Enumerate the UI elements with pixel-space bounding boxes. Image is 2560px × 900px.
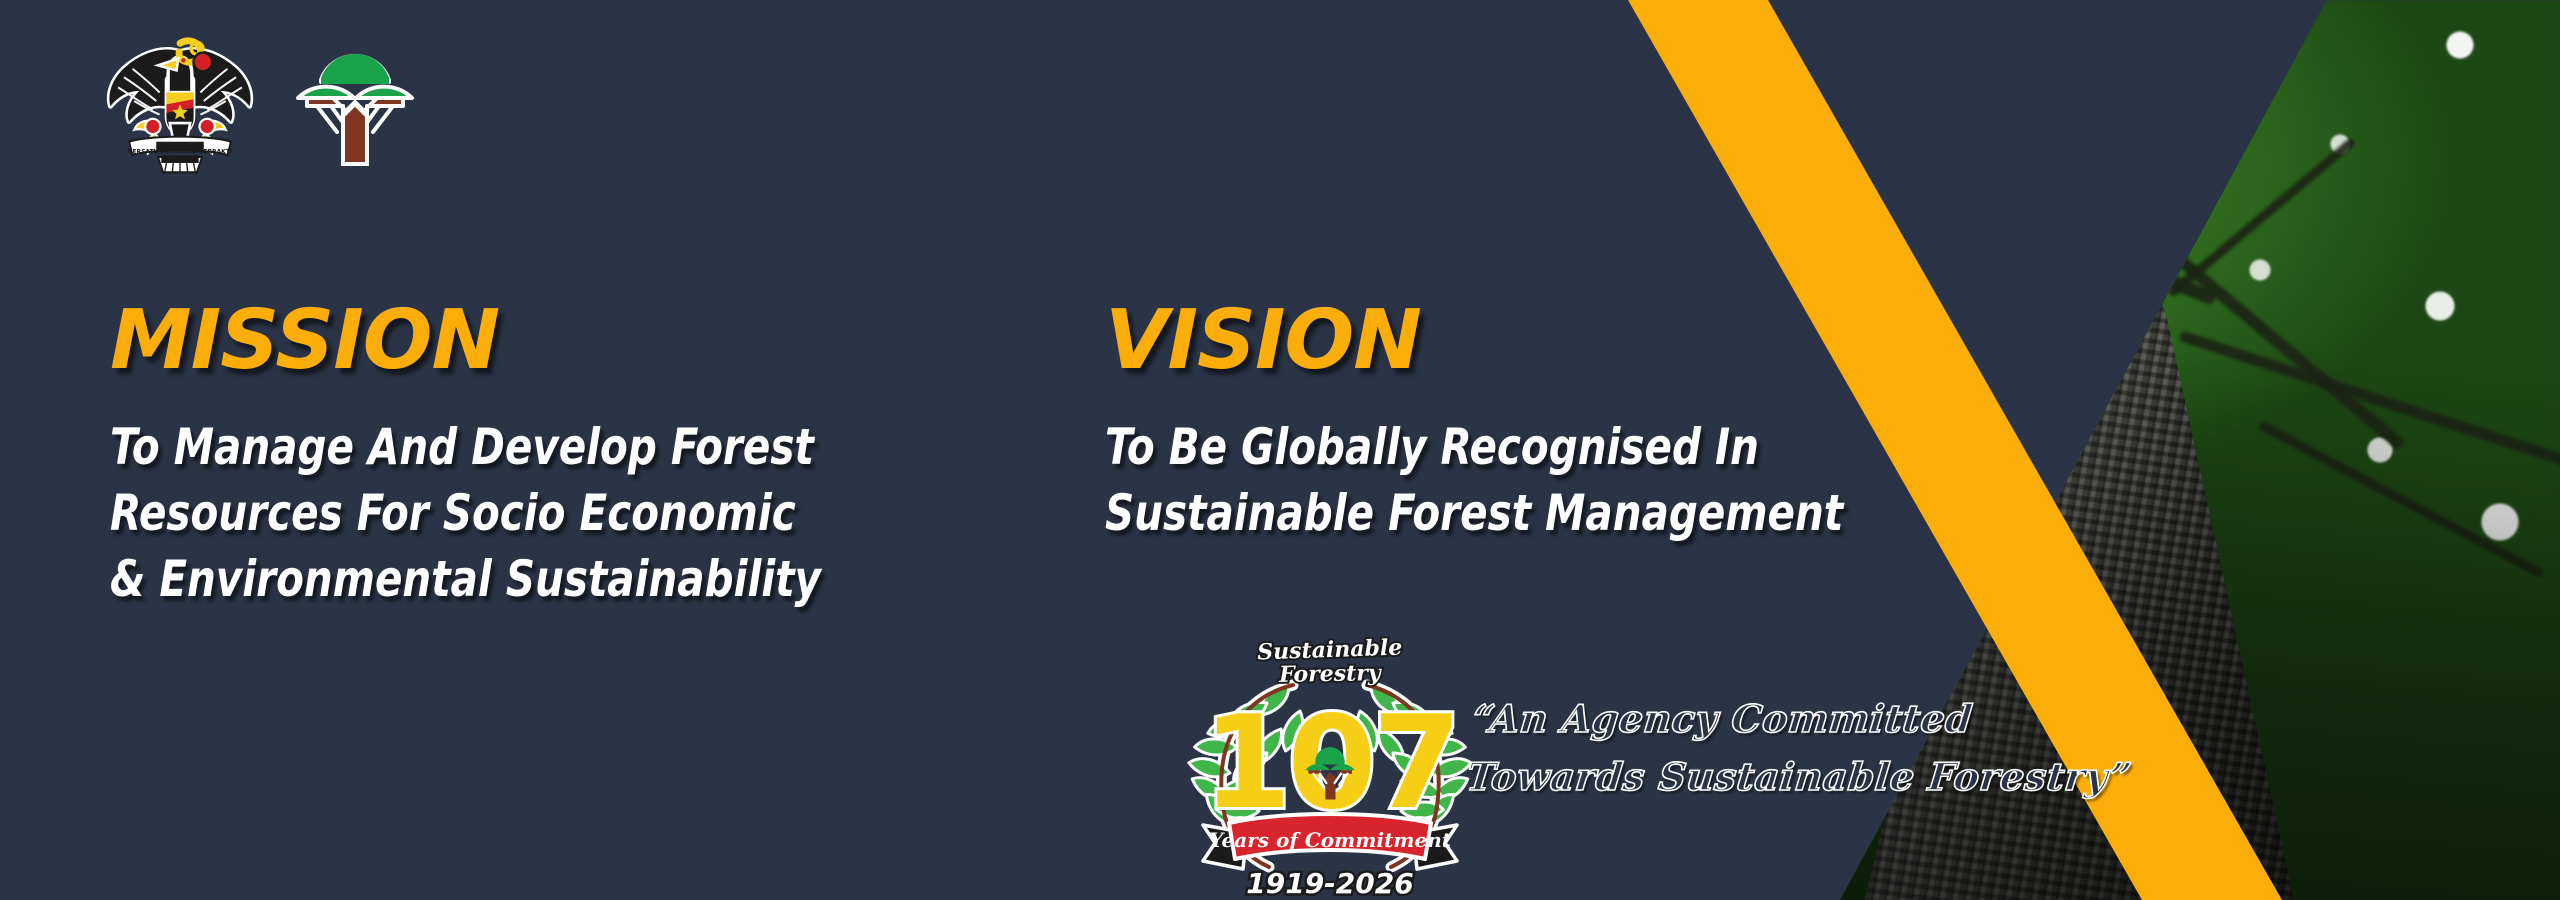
logo-group: BERSATU BERUSAHA BERBAKTI	[95, 28, 419, 173]
forest-department-tree-logo-icon	[291, 28, 419, 168]
trunk-crown	[2030, 35, 2160, 165]
coat-of-arms-motto: BERSATU BERUSAHA BERBAKTI	[128, 149, 232, 156]
vision-block: VISION To Be Globally Recognised In Sust…	[1105, 300, 2055, 546]
branch	[2086, 0, 2217, 157]
tagline-line-1: “An Agency Committed	[1470, 690, 2116, 748]
mission-line-3: & Environmental Sustainability	[110, 546, 920, 612]
mission-line-2: Resources For Socio Economic	[110, 480, 920, 546]
branch	[1886, 0, 2130, 162]
anniv-top-line-2: Forestry	[1278, 660, 1383, 688]
branch	[1899, 83, 2253, 169]
tagline-line-2: Towards Sustainable Forestry”	[1464, 748, 2110, 806]
vision-heading: VISION	[1105, 300, 2055, 382]
branch	[1897, 166, 2217, 306]
anniv-ribbon-text: Years of Commitment	[1209, 828, 1452, 852]
107-anniversary-emblem: Sustainable Forestry 107 Years of Commit…	[1185, 625, 1475, 900]
mission-heading: MISSION	[110, 300, 1010, 382]
mission-block: MISSION To Manage And Develop Forest Res…	[110, 300, 1010, 612]
tagline: “An Agency Committed Towards Sustainable…	[1464, 690, 2116, 806]
sarawak-coat-of-arms-icon: BERSATU BERUSAHA BERBAKTI	[95, 28, 265, 174]
vision-line-1: To Be Globally Recognised In	[1105, 414, 1960, 480]
mission-line-1: To Manage And Develop Forest	[110, 414, 920, 480]
vision-line-2: Sustainable Forest Management	[1105, 480, 1960, 546]
mission-vision-banner: BERSATU BERUSAHA BERBAKTI	[0, 0, 2560, 900]
anniv-years: 1919-2026	[1246, 867, 1413, 900]
